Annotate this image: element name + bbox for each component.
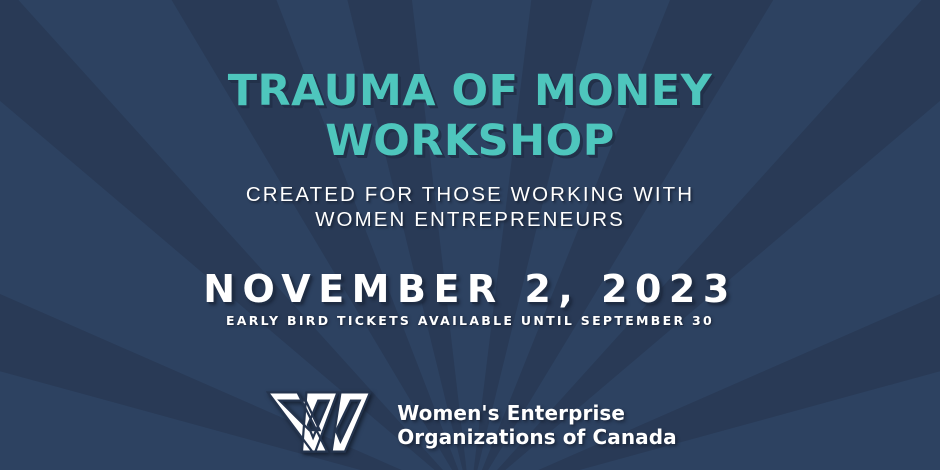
weoc-logo-lockup: Women's Enterprise Organizations of Cana… bbox=[0, 388, 940, 462]
subtitle-line-2: WOMEN ENTREPRENEURS bbox=[0, 207, 940, 232]
weoc-wordmark: Women's Enterprise Organizations of Cana… bbox=[397, 401, 677, 449]
event-date-block: NOVEMBER 2, 2023 EARLY BIRD TICKETS AVAI… bbox=[0, 267, 940, 329]
weoc-w-monogram-icon bbox=[263, 388, 375, 462]
wordmark-line-1: Women's Enterprise bbox=[397, 401, 677, 425]
event-date: NOVEMBER 2, 2023 bbox=[0, 267, 940, 311]
poster-subtitle: CREATED FOR THOSE WORKING WITH WOMEN ENT… bbox=[0, 182, 940, 232]
subtitle-line-1: CREATED FOR THOSE WORKING WITH bbox=[0, 182, 940, 207]
early-bird-note: EARLY BIRD TICKETS AVAILABLE UNTIL SEPTE… bbox=[0, 313, 940, 329]
wordmark-line-2: Organizations of Canada bbox=[397, 425, 677, 449]
poster-content: TRAUMA OF MONEY WORKSHOP CREATED FOR THO… bbox=[0, 0, 940, 470]
title-line-1: TRAUMA OF MONEY bbox=[0, 66, 940, 116]
event-poster: TRAUMA OF MONEY WORKSHOP CREATED FOR THO… bbox=[0, 0, 940, 470]
poster-title: TRAUMA OF MONEY WORKSHOP bbox=[0, 66, 940, 166]
title-line-2: WORKSHOP bbox=[0, 116, 940, 166]
